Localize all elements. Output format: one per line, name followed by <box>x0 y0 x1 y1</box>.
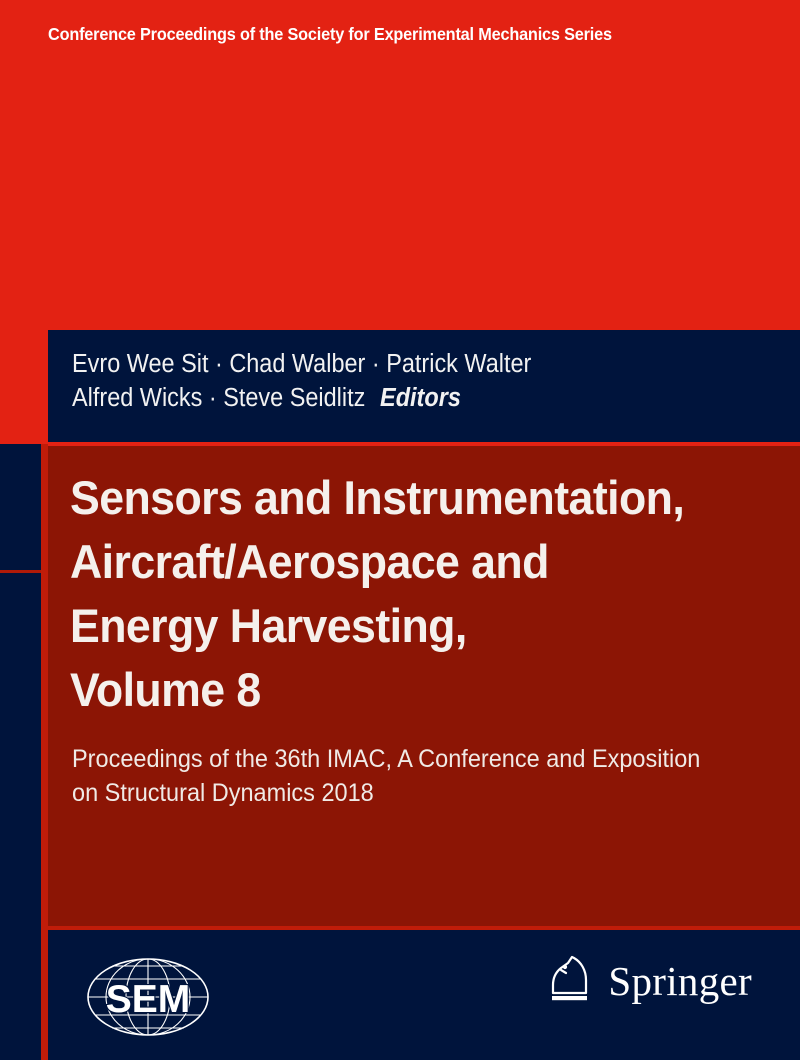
editors-role-label: Editors <box>365 384 461 412</box>
subtitle-line-1: Proceedings of the 36th IMAC, A Conferen… <box>72 742 749 776</box>
sem-logo-text: SEM <box>106 978 191 1021</box>
logo-block: SEM Springer <box>48 930 800 1060</box>
book-subtitle: Proceedings of the 36th IMAC, A Conferen… <box>72 742 749 810</box>
spine-gutter-lower <box>41 444 48 1060</box>
spine-navy-segment-upper <box>0 444 41 570</box>
book-title: Sensors and Instrumentation, Aircraft/Ae… <box>70 466 754 722</box>
subtitle-line-2: on Structural Dynamics 2018 <box>72 776 749 810</box>
series-title: Conference Proceedings of the Society fo… <box>48 24 718 45</box>
editors-line-2: Alfred Wicks · Steve Seidlitz <box>72 384 365 412</box>
series-band <box>0 0 800 330</box>
sem-globe-logo: SEM <box>78 954 218 1040</box>
springer-wordmark: Springer <box>608 961 752 1002</box>
springer-logo: Springer <box>548 952 752 1010</box>
title-block: Sensors and Instrumentation, Aircraft/Ae… <box>48 446 800 926</box>
editors-line-2-wrapper: Alfred Wicks · Steve SeidlitzEditors <box>72 381 531 415</box>
springer-knight-icon <box>548 952 594 1010</box>
editors-block: Evro Wee Sit · Chad Walber · Patrick Wal… <box>48 330 800 442</box>
sem-globe-icon: SEM <box>78 954 218 1040</box>
title-line-4: Volume 8 <box>70 658 754 722</box>
editors-line-1: Evro Wee Sit · Chad Walber · Patrick Wal… <box>72 347 531 381</box>
title-line-2: Aircraft/Aerospace and <box>70 530 754 594</box>
title-line-3: Energy Harvesting, <box>70 594 754 658</box>
spine-navy-segment-lower <box>0 573 41 1060</box>
editors-names: Evro Wee Sit · Chad Walber · Patrick Wal… <box>72 347 531 415</box>
book-cover: Conference Proceedings of the Society fo… <box>0 0 800 1060</box>
title-line-1: Sensors and Instrumentation, <box>70 466 754 530</box>
spine-red-segment <box>0 0 41 444</box>
